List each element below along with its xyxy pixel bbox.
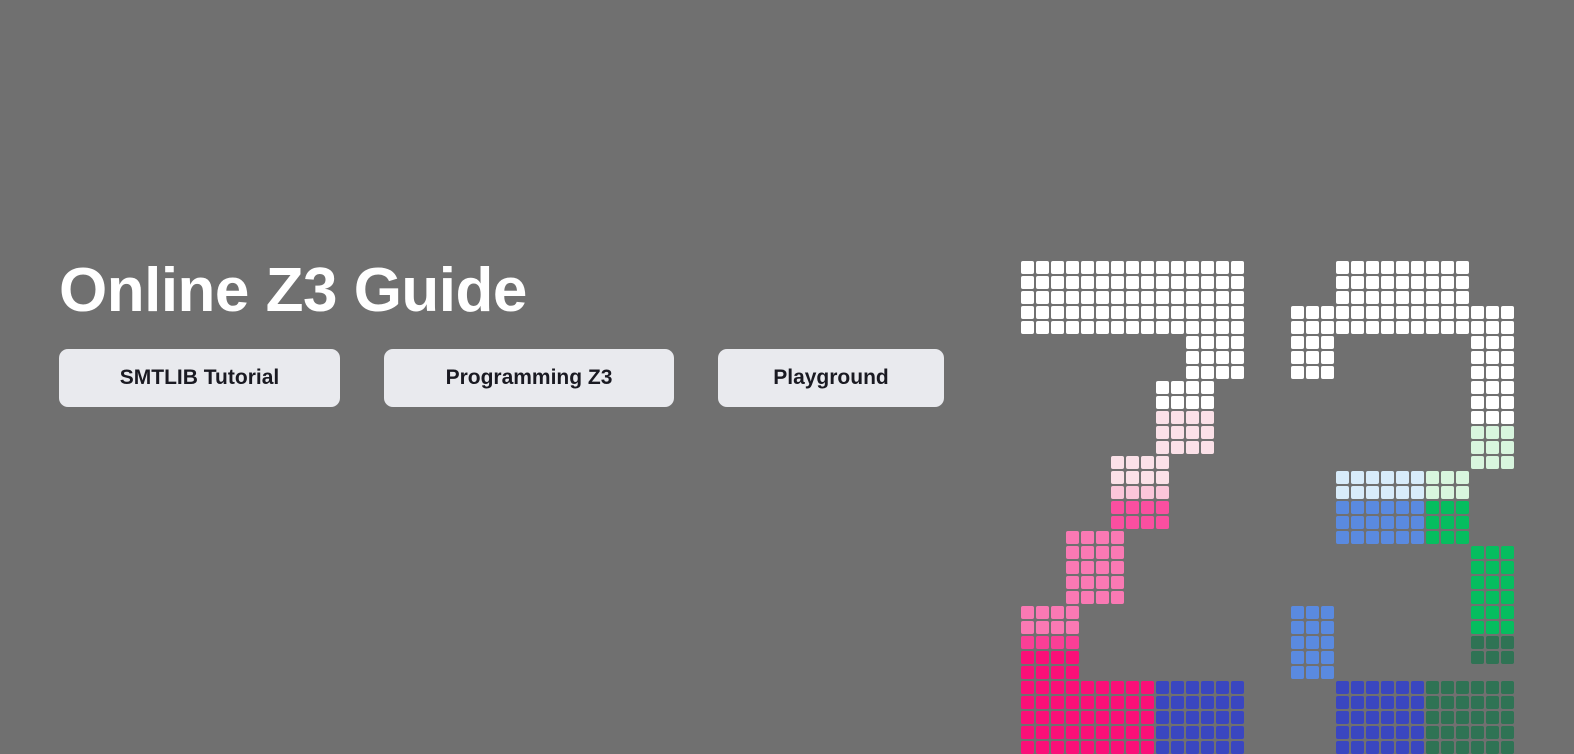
logo-pixel [1441, 306, 1454, 319]
logo-pixel [1366, 711, 1379, 724]
logo-pixel [1351, 696, 1364, 709]
logo-pixel [1306, 336, 1319, 349]
logo-pixel [1486, 591, 1499, 604]
logo-pixel [1081, 561, 1094, 574]
logo-pixel [1456, 261, 1469, 274]
logo-pixel [1066, 261, 1079, 274]
logo-pixel [1501, 576, 1514, 589]
logo-pixel [1336, 321, 1349, 334]
logo-pixel [1111, 456, 1124, 469]
logo-pixel [1501, 711, 1514, 724]
logo-pixel [1456, 516, 1469, 529]
logo-pixel [1291, 366, 1304, 379]
logo-pixel [1501, 561, 1514, 574]
logo-pixel [1501, 456, 1514, 469]
logo-pixel [1096, 546, 1109, 559]
logo-pixel [1426, 501, 1439, 514]
logo-pixel [1381, 696, 1394, 709]
logo-pixel [1201, 741, 1214, 754]
logo-pixel [1066, 621, 1079, 634]
logo-pixel [1321, 666, 1334, 679]
logo-pixel [1336, 501, 1349, 514]
logo-pixel [1501, 651, 1514, 664]
logo-pixel [1381, 681, 1394, 694]
logo-pixel [1186, 426, 1199, 439]
logo-pixel [1396, 276, 1409, 289]
logo-pixel [1396, 711, 1409, 724]
logo-pixel [1171, 426, 1184, 439]
logo-pixel [1501, 426, 1514, 439]
logo-pixel [1156, 291, 1169, 304]
logo-pixel [1486, 336, 1499, 349]
logo-pixel [1216, 696, 1229, 709]
hero-section: Online Z3 Guide SMTLIB Tutorial Programm… [0, 0, 1574, 742]
logo-pixel [1051, 711, 1064, 724]
logo-pixel [1381, 726, 1394, 739]
logo-pixel [1021, 696, 1034, 709]
logo-pixel [1291, 351, 1304, 364]
logo-pixel [1321, 321, 1334, 334]
logo-pixel [1231, 741, 1244, 754]
logo-pixel [1351, 306, 1364, 319]
logo-pixel [1111, 516, 1124, 529]
logo-pixel [1486, 426, 1499, 439]
logo-pixel [1126, 741, 1139, 754]
logo-pixel [1486, 411, 1499, 424]
logo-pixel [1036, 321, 1049, 334]
logo-pixel [1486, 306, 1499, 319]
logo-pixel [1486, 621, 1499, 634]
logo-pixel [1066, 681, 1079, 694]
logo-pixel [1171, 291, 1184, 304]
logo-pixel [1441, 726, 1454, 739]
logo-pixel [1486, 561, 1499, 574]
logo-pixel [1021, 726, 1034, 739]
logo-pixel [1141, 261, 1154, 274]
logo-pixel [1336, 471, 1349, 484]
logo-pixel [1066, 291, 1079, 304]
logo-pixel [1501, 696, 1514, 709]
logo-pixel [1036, 621, 1049, 634]
logo-pixel [1366, 261, 1379, 274]
logo-pixel [1036, 636, 1049, 649]
logo-pixel [1351, 261, 1364, 274]
logo-pixel [1156, 711, 1169, 724]
logo-pixel [1066, 576, 1079, 589]
logo-pixel [1411, 741, 1424, 754]
logo-pixel [1036, 306, 1049, 319]
logo-pixel [1096, 306, 1109, 319]
logo-pixel [1426, 291, 1439, 304]
logo-pixel [1396, 261, 1409, 274]
logo-pixel [1186, 276, 1199, 289]
logo-pixel [1081, 546, 1094, 559]
logo-pixel [1321, 621, 1334, 634]
logo-pixel [1336, 531, 1349, 544]
logo-pixel [1411, 711, 1424, 724]
logo-pixel [1051, 726, 1064, 739]
logo-pixel [1471, 741, 1484, 754]
logo-pixel [1366, 291, 1379, 304]
logo-pixel [1156, 261, 1169, 274]
logo-pixel [1066, 651, 1079, 664]
logo-pixel [1021, 666, 1034, 679]
logo-pixel [1501, 441, 1514, 454]
logo-pixel [1411, 726, 1424, 739]
logo-pixel [1096, 591, 1109, 604]
logo-pixel [1186, 441, 1199, 454]
logo-pixel [1471, 321, 1484, 334]
logo-pixel [1456, 741, 1469, 754]
logo-pixel [1306, 351, 1319, 364]
logo-pixel [1186, 741, 1199, 754]
logo-pixel [1366, 501, 1379, 514]
logo-pixel [1201, 696, 1214, 709]
logo-pixel [1456, 471, 1469, 484]
logo-pixel [1381, 501, 1394, 514]
logo-pixel [1186, 291, 1199, 304]
programming-z3-button[interactable]: Programming Z3 [384, 349, 674, 407]
logo-pixel [1081, 726, 1094, 739]
logo-pixel [1396, 321, 1409, 334]
logo-pixel [1426, 531, 1439, 544]
logo-pixel [1096, 291, 1109, 304]
logo-pixel [1201, 711, 1214, 724]
logo-pixel [1231, 351, 1244, 364]
logo-pixel [1096, 741, 1109, 754]
logo-pixel [1156, 396, 1169, 409]
logo-pixel [1216, 261, 1229, 274]
logo-pixel [1021, 261, 1034, 274]
logo-pixel [1126, 696, 1139, 709]
logo-pixel [1501, 366, 1514, 379]
logo-pixel [1351, 516, 1364, 529]
logo-pixel [1366, 306, 1379, 319]
logo-pixel [1411, 276, 1424, 289]
logo-pixel [1051, 681, 1064, 694]
logo-pixel [1156, 516, 1169, 529]
logo-pixel [1381, 486, 1394, 499]
logo-pixel [1066, 531, 1079, 544]
logo-pixel [1471, 381, 1484, 394]
logo-pixel [1216, 726, 1229, 739]
logo-pixel [1141, 711, 1154, 724]
logo-pixel [1066, 591, 1079, 604]
logo-pixel [1051, 261, 1064, 274]
logo-pixel [1141, 516, 1154, 529]
logo-pixel [1216, 711, 1229, 724]
logo-pixel [1066, 561, 1079, 574]
logo-pixel [1501, 591, 1514, 604]
logo-pixel [1321, 636, 1334, 649]
logo-pixel [1351, 741, 1364, 754]
logo-pixel [1066, 726, 1079, 739]
logo-pixel [1501, 336, 1514, 349]
logo-pixel [1306, 621, 1319, 634]
logo-pixel [1381, 531, 1394, 544]
logo-pixel [1081, 681, 1094, 694]
logo-pixel [1411, 681, 1424, 694]
logo-pixel [1126, 726, 1139, 739]
logo-pixel [1366, 486, 1379, 499]
logo-pixel [1456, 486, 1469, 499]
logo-pixel [1336, 291, 1349, 304]
logo-pixel [1381, 276, 1394, 289]
logo-pixel [1396, 741, 1409, 754]
logo-pixel [1021, 741, 1034, 754]
logo-pixel [1201, 336, 1214, 349]
logo-pixel [1156, 426, 1169, 439]
logo-pixel [1471, 591, 1484, 604]
logo-pixel [1216, 681, 1229, 694]
logo-pixel [1051, 651, 1064, 664]
logo-pixel [1456, 681, 1469, 694]
logo-pixel [1351, 531, 1364, 544]
logo-pixel [1141, 726, 1154, 739]
logo-pixel [1441, 531, 1454, 544]
logo-pixel [1096, 711, 1109, 724]
logo-pixel [1111, 276, 1124, 289]
logo-pixel [1171, 696, 1184, 709]
logo-pixel [1471, 546, 1484, 559]
logo-pixel [1036, 276, 1049, 289]
logo-pixel [1441, 681, 1454, 694]
logo-pixel [1066, 666, 1079, 679]
logo-pixel [1366, 696, 1379, 709]
logo-pixel [1336, 261, 1349, 274]
logo-pixel [1381, 321, 1394, 334]
logo-pixel [1231, 336, 1244, 349]
logo-pixel [1441, 516, 1454, 529]
logo-pixel [1351, 711, 1364, 724]
logo-pixel [1186, 711, 1199, 724]
logo-pixel [1141, 276, 1154, 289]
logo-pixel [1216, 276, 1229, 289]
logo-pixel [1501, 351, 1514, 364]
logo-pixel [1081, 306, 1094, 319]
logo-pixel [1441, 291, 1454, 304]
page-title: Online Z3 Guide [59, 258, 959, 323]
logo-pixel [1156, 471, 1169, 484]
logo-pixel [1291, 336, 1304, 349]
logo-pixel [1111, 486, 1124, 499]
logo-pixel [1441, 741, 1454, 754]
logo-pixel [1126, 516, 1139, 529]
logo-pixel [1456, 726, 1469, 739]
logo-pixel [1231, 261, 1244, 274]
logo-pixel [1396, 681, 1409, 694]
logo-pixel [1426, 486, 1439, 499]
logo-pixel [1381, 261, 1394, 274]
logo-pixel [1171, 711, 1184, 724]
logo-pixel [1201, 396, 1214, 409]
logo-pixel [1471, 621, 1484, 634]
logo-pixel [1231, 726, 1244, 739]
logo-pixel [1216, 321, 1229, 334]
logo-pixel [1456, 321, 1469, 334]
logo-pixel [1381, 741, 1394, 754]
logo-pixel [1066, 696, 1079, 709]
logo-pixel [1021, 321, 1034, 334]
logo-pixel [1426, 261, 1439, 274]
logo-pixel [1186, 396, 1199, 409]
logo-pixel [1471, 576, 1484, 589]
logo-pixel [1471, 426, 1484, 439]
logo-pixel [1441, 321, 1454, 334]
logo-pixel [1111, 546, 1124, 559]
logo-pixel [1321, 336, 1334, 349]
logo-pixel [1291, 606, 1304, 619]
logo-pixel [1456, 276, 1469, 289]
logo-pixel [1201, 426, 1214, 439]
logo-pixel [1471, 681, 1484, 694]
smtlib-tutorial-button[interactable]: SMTLIB Tutorial [59, 349, 340, 407]
logo-pixel [1201, 351, 1214, 364]
logo-pixel [1351, 501, 1364, 514]
logo-pixel [1396, 486, 1409, 499]
logo-pixel [1291, 306, 1304, 319]
logo-pixel [1231, 696, 1244, 709]
logo-pixel [1036, 606, 1049, 619]
logo-pixel [1291, 321, 1304, 334]
logo-pixel [1126, 501, 1139, 514]
logo-pixel [1336, 486, 1349, 499]
logo-pixel [1231, 306, 1244, 319]
logo-pixel [1111, 561, 1124, 574]
logo-pixel [1396, 726, 1409, 739]
logo-pixel [1456, 711, 1469, 724]
logo-pixel [1126, 681, 1139, 694]
logo-pixel [1186, 381, 1199, 394]
logo-pixel [1231, 276, 1244, 289]
logo-pixel [1306, 636, 1319, 649]
logo-pixel [1111, 576, 1124, 589]
logo-pixel [1081, 261, 1094, 274]
logo-pixel [1216, 291, 1229, 304]
logo-pixel [1171, 381, 1184, 394]
logo-pixel [1441, 471, 1454, 484]
logo-pixel [1186, 726, 1199, 739]
logo-pixel [1201, 441, 1214, 454]
logo-pixel [1186, 411, 1199, 424]
logo-pixel [1081, 276, 1094, 289]
logo-pixel [1186, 261, 1199, 274]
logo-pixel [1171, 396, 1184, 409]
logo-pixel [1186, 696, 1199, 709]
logo-pixel [1201, 726, 1214, 739]
logo-pixel [1396, 531, 1409, 544]
logo-pixel [1126, 291, 1139, 304]
logo-pixel [1411, 516, 1424, 529]
logo-pixel [1186, 321, 1199, 334]
logo-pixel [1171, 441, 1184, 454]
logo-pixel [1171, 306, 1184, 319]
playground-button[interactable]: Playground [718, 349, 944, 407]
logo-pixel [1156, 741, 1169, 754]
logo-pixel [1306, 606, 1319, 619]
logo-pixel [1351, 486, 1364, 499]
hero-button-row: SMTLIB Tutorial Programming Z3 Playgroun… [59, 349, 959, 407]
logo-pixel [1501, 681, 1514, 694]
logo-pixel [1501, 606, 1514, 619]
logo-pixel [1036, 666, 1049, 679]
logo-pixel [1081, 711, 1094, 724]
logo-pixel [1021, 651, 1034, 664]
logo-pixel [1411, 291, 1424, 304]
logo-pixel [1291, 651, 1304, 664]
logo-pixel [1411, 531, 1424, 544]
logo-pixel [1021, 276, 1034, 289]
logo-pixel [1396, 516, 1409, 529]
logo-pixel [1111, 531, 1124, 544]
logo-pixel [1096, 561, 1109, 574]
logo-pixel [1411, 306, 1424, 319]
logo-pixel [1336, 681, 1349, 694]
logo-pixel [1411, 696, 1424, 709]
logo-pixel [1021, 306, 1034, 319]
logo-pixel [1486, 726, 1499, 739]
logo-pixel [1426, 306, 1439, 319]
logo-pixel [1486, 576, 1499, 589]
logo-pixel [1081, 576, 1094, 589]
logo-pixel [1381, 516, 1394, 529]
logo-pixel [1111, 711, 1124, 724]
logo-pixel [1291, 636, 1304, 649]
logo-pixel [1051, 621, 1064, 634]
logo-pixel [1081, 321, 1094, 334]
logo-pixel [1411, 471, 1424, 484]
logo-pixel [1171, 741, 1184, 754]
logo-pixel [1156, 696, 1169, 709]
logo-pixel [1441, 696, 1454, 709]
logo-pixel [1231, 321, 1244, 334]
logo-pixel [1096, 576, 1109, 589]
logo-pixel [1471, 726, 1484, 739]
logo-pixel [1066, 306, 1079, 319]
logo-pixel [1201, 321, 1214, 334]
logo-pixel [1441, 486, 1454, 499]
logo-pixel [1066, 321, 1079, 334]
logo-pixel [1501, 396, 1514, 409]
logo-pixel [1486, 351, 1499, 364]
logo-pixel [1456, 696, 1469, 709]
logo-pixel [1441, 261, 1454, 274]
logo-pixel [1141, 291, 1154, 304]
logo-pixel [1216, 351, 1229, 364]
logo-pixel [1231, 291, 1244, 304]
logo-pixel [1396, 696, 1409, 709]
logo-pixel [1486, 366, 1499, 379]
logo-pixel [1111, 291, 1124, 304]
logo-pixel [1411, 486, 1424, 499]
logo-pixel [1051, 321, 1064, 334]
logo-pixel [1066, 276, 1079, 289]
logo-pixel [1486, 381, 1499, 394]
logo-pixel [1171, 681, 1184, 694]
logo-pixel [1381, 471, 1394, 484]
logo-pixel [1471, 711, 1484, 724]
logo-pixel [1231, 681, 1244, 694]
logo-pixel [1336, 276, 1349, 289]
logo-pixel [1336, 711, 1349, 724]
logo-pixel [1396, 471, 1409, 484]
logo-pixel [1066, 711, 1079, 724]
logo-pixel [1216, 336, 1229, 349]
logo-pixel [1501, 636, 1514, 649]
logo-pixel [1426, 696, 1439, 709]
logo-pixel [1126, 306, 1139, 319]
logo-pixel [1396, 501, 1409, 514]
